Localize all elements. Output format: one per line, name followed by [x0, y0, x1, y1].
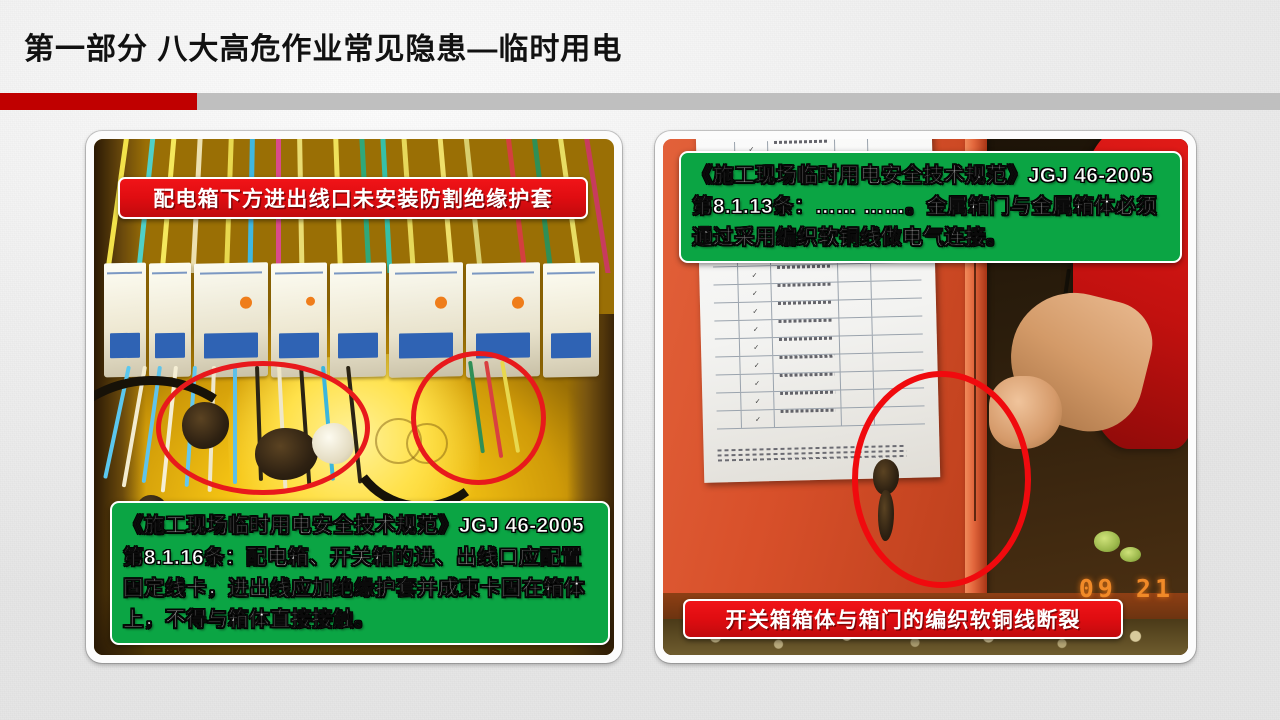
- circuit-breaker: [543, 262, 599, 377]
- distribution-box-photo: 配电箱下方进出线口未安装防割绝缘护套 《施工现场临时用电安全技术规范》JGJ 4…: [94, 139, 614, 655]
- hazard-banner-right: 开关箱箱体与箱门的编织软铜线断裂: [683, 599, 1123, 639]
- title-divider-gray-segment: [197, 93, 1280, 110]
- title-divider-red-segment: [0, 93, 197, 110]
- circuit-breaker: [330, 262, 386, 377]
- hazard-banner-left: 配电箱下方进出线口未安装防割绝缘护套: [118, 177, 588, 219]
- vegetation-debris: [1120, 547, 1141, 562]
- circuit-breaker-row: [94, 263, 614, 377]
- circuit-breaker: [194, 262, 268, 377]
- page-title: 第一部分 八大高危作业常见隐患—临时用电: [24, 24, 622, 68]
- annotation-circle: [852, 371, 1031, 588]
- photo-panel-right[interactable]: ✓ ✓ ✓ ✓ ✓ ✓ ✓ ✓ ✓ ✓ ✓ ✓ ✓ ✓ ✓ ✓: [655, 131, 1196, 663]
- annotation-ellipse-right: [411, 351, 546, 485]
- title-divider: [0, 93, 1280, 110]
- annotation-ellipse-left: [156, 361, 369, 495]
- vegetation-debris: [1094, 531, 1120, 552]
- photo-panel-left[interactable]: 配电箱下方进出线口未安装防割绝缘护套 《施工现场临时用电安全技术规范》JGJ 4…: [86, 131, 622, 663]
- circuit-breaker: [271, 262, 327, 377]
- circuit-breaker: [149, 262, 191, 376]
- regulation-note-right: 《施工现场临时用电安全技术规范》JGJ 46-2005第8.1.13条：…… ……: [679, 151, 1182, 263]
- switch-box-photo: ✓ ✓ ✓ ✓ ✓ ✓ ✓ ✓ ✓ ✓ ✓ ✓ ✓ ✓ ✓ ✓: [663, 139, 1188, 655]
- regulation-note-left: 《施工现场临时用电安全技术规范》JGJ 46-2005第8.1.16条：配电箱、…: [110, 501, 610, 645]
- circuit-breaker: [104, 262, 146, 376]
- slide-canvas: 第一部分 八大高危作业常见隐患—临时用电: [0, 0, 1280, 720]
